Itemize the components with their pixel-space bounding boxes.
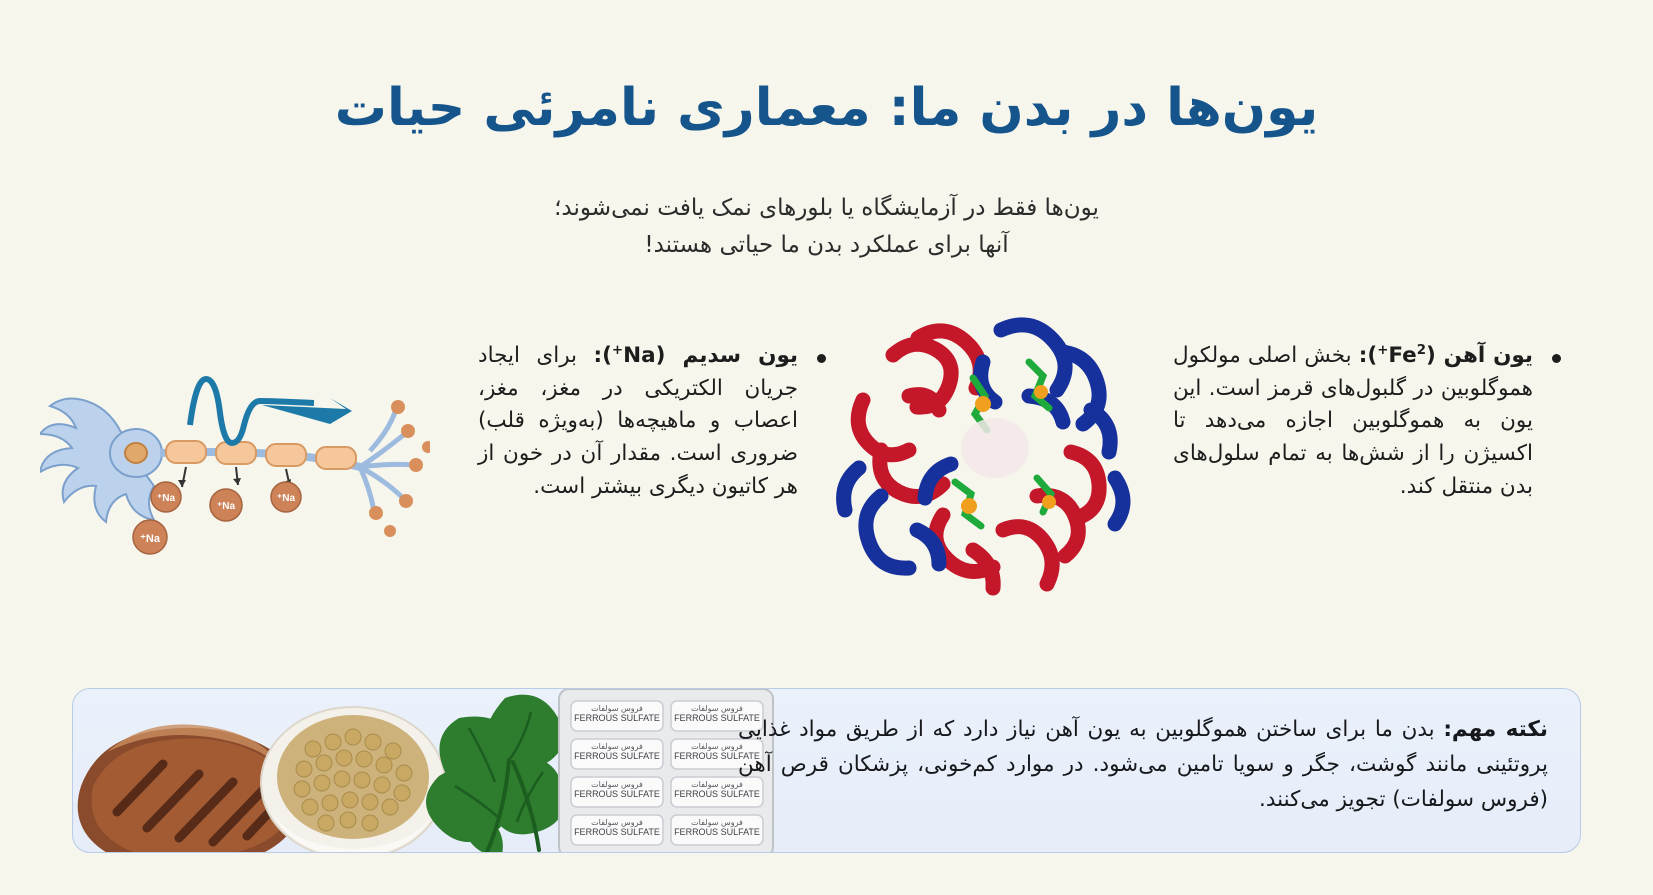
sodium-charge: + [612,343,623,358]
svg-text:فروس سولفات: فروس سولفات [691,780,743,789]
svg-text:FERROUS SULFATE: FERROUS SULFATE [574,789,660,799]
note-body: بدن ما برای ساختن هموگلوبین به یون آهن ن… [738,717,1548,812]
sodium-symbol: Na [623,343,656,368]
bullet-item-iron: یون آهن (Fe2+): بخش اصلی مولکول هموگلوبی… [1173,340,1533,503]
important-note-box: FERROUS SULFATEFERROUS SULFATE FERROUS S… [72,688,1581,853]
subtitle-line-1: یون‌ها فقط در آزمایشگاه یا بلورهای نمک ی… [0,190,1653,227]
note-label: نکته مهم: [1443,717,1548,742]
slide-root: یون‌ها در بدن ما: معماری نامرئی حیات یون… [0,0,1653,895]
svg-text:فروس سولفات: فروس سولفات [591,704,643,713]
bullet-dot-icon [1552,354,1561,363]
na-ion-label: Na⁺ [277,493,296,504]
svg-text:فروس سولفات: فروس سولفات [691,704,743,713]
svg-text:فروس سولفات: فروس سولفات [691,818,743,827]
neuron-action-potential-illustration: Na⁺ Na⁺ Na⁺ Na⁺ [40,355,430,565]
important-note-text: نکته مهم: بدن ما برای ساختن هموگلوبین به… [738,713,1548,817]
na-ion-label: Na⁺ [217,501,236,512]
svg-text:فروس سولفات: فروس سولفات [691,742,743,751]
sodium-lead-label: یون سدیم (Na+): [593,343,798,368]
na-ion-label: Na⁺ [157,493,176,504]
bullet-dot-icon [817,354,826,363]
iron-lead-label: یون آهن (Fe2+): [1359,343,1533,368]
svg-text:FERROUS SULFATE: FERROUS SULFATE [574,827,660,837]
svg-text:فروس سولفات: فروس سولفات [591,742,643,751]
page-subtitle: یون‌ها فقط در آزمایشگاه یا بلورهای نمک ی… [0,190,1653,265]
iron-symbol: Fe [1388,343,1416,368]
svg-text:FERROUS SULFATE: FERROUS SULFATE [574,751,660,761]
note-food-images: FERROUS SULFATEFERROUS SULFATE FERROUS S… [73,689,773,853]
bullet-item-sodium: یون سدیم (Na+): برای ایجاد جریان الکتریک… [478,340,798,503]
svg-text:FERROUS SULFATE: FERROUS SULFATE [574,713,660,723]
subtitle-line-2: آنها برای عملکرد بدن ما حیاتی هستند! [0,227,1653,264]
svg-text:FERROUS SULFATE: FERROUS SULFATE [674,827,760,837]
hemoglobin-molecule-illustration [823,300,1153,605]
svg-text:فروس سولفات: فروس سولفات [591,818,643,827]
page-title: یون‌ها در بدن ما: معماری نامرئی حیات [0,78,1653,138]
svg-text:فروس سولفات: فروس سولفات [591,780,643,789]
na-ion-label: Na⁺ [140,533,161,545]
nucleus [125,443,147,463]
